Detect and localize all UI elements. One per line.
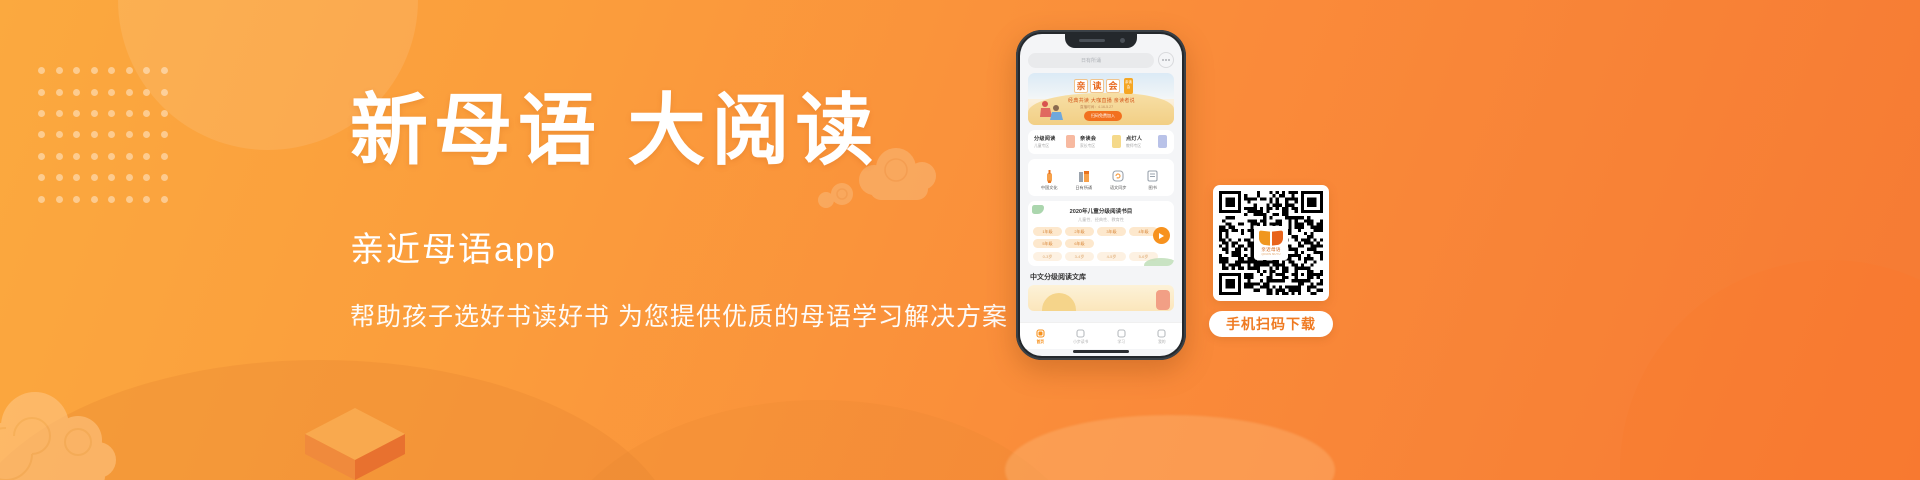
banner-tagline: 帮助孩子选好书读好书 为您提供优质的母语学习解决方案 [350,297,1050,333]
phone-mockup: 日有所诵 亲 读 会 亲读会 经典共读 大 [1016,30,1186,360]
decor-phone-glow [1005,415,1335,480]
play-button[interactable] [1153,227,1170,244]
promo-char: 亲 [1074,79,1088,93]
quick-icon-label: 中国文化 [1032,185,1067,191]
booklist-title: 2020年儿童分级阅读书目 [1033,207,1169,215]
zone-thumb [1112,135,1121,148]
promo-tag: 亲读会 [1124,78,1133,94]
tab-study[interactable]: 学习 [1101,328,1142,345]
decor-leaf [1144,258,1174,266]
tab-label: 学习 [1101,340,1142,345]
quick-icons-card: 中国文化 日有所诵 语文同步 [1028,159,1174,196]
promo-banner: 新母语 大阅读 亲近母语app 帮助孩子选好书读好书 为您提供优质的母语学习解决… [0,0,1920,480]
zone-item-parent-club[interactable]: 亲读会 家长专区 [1078,135,1124,149]
tab-label: 小步读书 [1061,340,1102,345]
qr-code[interactable]: 亲近母语 QINJIN MUYU [1219,191,1323,295]
quick-icon-label: 语文同步 [1101,185,1136,191]
promo-char: 会 [1106,79,1120,93]
grade-chip[interactable]: 3年级 [1097,227,1126,236]
grade-chip[interactable]: 6年级 [1065,239,1094,248]
book-logo-icon [1259,231,1283,245]
tab-read[interactable]: 小步读书 [1061,328,1102,345]
page-title: 新母语 大阅读 [350,92,1050,170]
promo-join-button[interactable]: 扫码免费加入 [1084,111,1122,121]
booklist-subtitle: 儿童性、经典性、教育性 [1033,217,1169,223]
app-home-screen: 日有所诵 亲 读 会 亲读会 经典共读 大 [1020,34,1182,356]
cloud-icon [0,368,180,480]
camera-icon [1120,38,1125,43]
grade-chip[interactable]: 2年级 [1065,227,1094,236]
zone-thumb [1066,135,1075,148]
culture-icon [1032,169,1067,183]
phone-screen: 日有所诵 亲 读 会 亲读会 经典共读 大 [1020,34,1182,356]
decor-dot-grid [33,60,173,210]
grade-chip-group: 1年级2年级3年级4年级5年级6年级 [1033,227,1169,248]
promo-date: 直播时间：4.16-5.27 [1080,105,1113,110]
bottom-tab-bar: 首页小步读书学习我的 [1020,322,1182,349]
home-icon [1020,328,1061,339]
library-card[interactable] [1028,285,1174,311]
quick-icon-culture[interactable]: 中国文化 [1032,169,1067,191]
promo-char: 读 [1090,79,1104,93]
books-icon [1136,169,1171,183]
phone-notch [1065,34,1137,48]
home-indicator [1073,350,1129,353]
age-chip[interactable]: 3-4岁 [1065,252,1094,261]
zone-thumb [1158,135,1167,148]
quick-icon-sync[interactable]: 语文同步 [1101,169,1136,191]
read-icon [1061,328,1102,339]
study-icon [1101,328,1142,339]
quick-icon-books[interactable]: 图书 [1136,169,1171,191]
age-chip[interactable]: 4-5岁 [1097,252,1126,261]
download-button[interactable]: 手机扫码下载 [1209,311,1333,337]
app-search-row: 日有所诵 [1028,52,1174,68]
book-icon [300,390,410,480]
zone-card: 分级阅读 儿童专区 亲读会 家长专区 点灯人 教师专区 [1028,130,1174,154]
section-title: 中文分级阅读文库 [1028,272,1174,282]
grade-chip[interactable]: 1年级 [1033,227,1062,236]
decor-circle-bottom-right [1620,260,1920,480]
children-illustration [1036,97,1066,121]
grade-chip[interactable]: 5年级 [1033,239,1062,248]
sync-icon [1101,169,1136,183]
speaker-icon [1079,39,1105,42]
qr-center-logo: 亲近母语 QINJIN MUYU [1254,226,1288,260]
tab-home[interactable]: 首页 [1020,328,1061,345]
zone-row: 分级阅读 儿童专区 亲读会 家长专区 点灯人 教师专区 [1032,135,1170,149]
banner-copy: 新母语 大阅读 亲近母语app 帮助孩子选好书读好书 为您提供优质的母语学习解决… [350,92,1050,333]
qr-code-card: 亲近母语 QINJIN MUYU [1213,185,1329,301]
logo-name-en: QINJIN MUYU [1261,253,1280,256]
zone-item-graded-reading[interactable]: 分级阅读 儿童专区 [1032,135,1078,149]
recite-icon [1067,169,1102,183]
zone-item-teacher[interactable]: 点灯人 教师专区 [1124,135,1170,149]
more-options-icon[interactable] [1158,52,1174,68]
quick-icon-row: 中国文化 日有所诵 语文同步 [1032,169,1170,191]
promo-title: 亲 读 会 [1074,79,1120,93]
tab-label: 首页 [1020,340,1061,345]
search-input[interactable]: 日有所诵 [1028,53,1154,68]
promo-card[interactable]: 亲 读 会 亲读会 经典共读 大咖直播 亲读者说 直播时间：4.16-5.27 … [1028,73,1174,125]
mine-icon [1142,328,1183,339]
quick-icon-label: 日有所诵 [1067,185,1102,191]
age-chip[interactable]: 0-3岁 [1033,252,1062,261]
quick-icon-recite[interactable]: 日有所诵 [1067,169,1102,191]
tab-mine[interactable]: 我的 [1142,328,1183,345]
tab-label: 我的 [1142,340,1183,345]
booklist-card: 2020年儿童分级阅读书目 儿童性、经典性、教育性 1年级2年级3年级4年级5年… [1028,201,1174,266]
promo-subtitle: 经典共读 大咖直播 亲读者说 [1068,97,1135,104]
quick-icon-label: 图书 [1136,185,1171,191]
app-name-subtitle: 亲近母语app [350,222,1050,271]
